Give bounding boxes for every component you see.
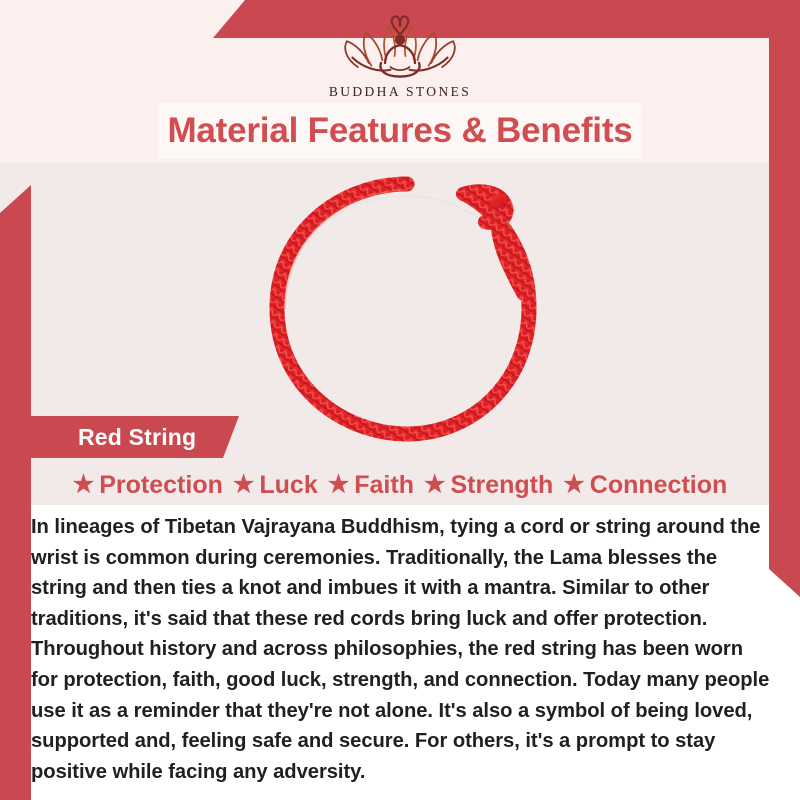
star-icon: ★ (424, 473, 446, 497)
star-icon: ★ (563, 473, 585, 497)
benefit-label: Strength (450, 471, 553, 500)
benefits-row: ★ Protection ★ Luck ★ Faith ★ Strength ★… (31, 466, 769, 504)
brand-logo: BUDDHA STONES (0, 14, 800, 100)
product-label-banner: Red String (31, 416, 239, 458)
benefit-label: Protection (99, 471, 223, 500)
benefit-label: Faith (354, 471, 414, 500)
product-label: Red String (78, 424, 196, 451)
lotus-meditation-figure-icon (330, 14, 470, 82)
title-banner: Material Features & Benefits (158, 103, 642, 159)
benefit-item: ★ Protection (73, 471, 223, 500)
star-icon: ★ (233, 473, 255, 497)
left-red-ribbon (0, 185, 31, 800)
star-icon: ★ (328, 473, 350, 497)
benefit-item: ★ Strength (424, 471, 553, 500)
red-string-bracelet-image (247, 168, 567, 448)
poster-root: BUDDHA STONES Material Features & Benefi… (0, 0, 800, 800)
benefit-item: ★ Faith (328, 471, 414, 500)
benefit-item: ★ Luck (233, 471, 318, 500)
star-icon: ★ (73, 473, 95, 497)
benefit-label: Connection (590, 471, 728, 500)
benefit-item: ★ Connection (563, 471, 727, 500)
page-title: Material Features & Benefits (167, 111, 632, 151)
benefit-label: Luck (259, 471, 317, 500)
description-paragraph: In lineages of Tibetan Vajrayana Buddhis… (31, 512, 773, 787)
brand-name: BUDDHA STONES (329, 84, 471, 100)
